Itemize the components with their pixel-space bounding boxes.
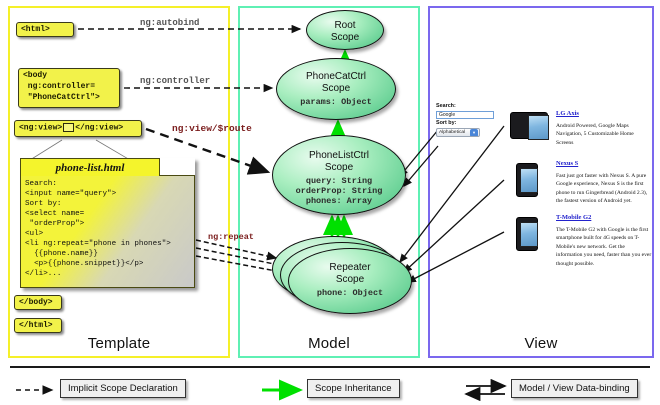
scope-phonelistctrl-title-1: PhoneListCtrl [273,150,405,162]
body-open-tag: <body ng:controller= "PhoneCatCtrl"> [18,68,120,108]
phone-image-slider [516,217,538,251]
ngview-close-label: </ng:view> [75,124,123,133]
scope-root-title-2: Scope [307,32,383,44]
scope-phonecatctrl-title-2: Scope [277,83,395,95]
phone-name-link[interactable]: Nexus S [556,160,578,167]
phone-name-link[interactable]: LG Axis [556,110,579,117]
scope-repeater-title-2: Scope [289,274,411,286]
body-close-tag: </body> [14,295,62,310]
legend-divider [10,366,650,368]
phone-image-candybar [516,163,538,197]
label-ng-repeat: ng:repeat [208,232,254,242]
phone-screen [528,115,549,140]
note-card-title: phone-list.html [20,158,160,176]
diagram-root: <html> <body ng:controller= "PhoneCatCtr… [0,0,660,405]
html-open-tag: <html> [16,22,74,37]
sort-select[interactable]: Alphabetical▾ [436,128,480,137]
note-card-code: Search: <input name="query"> Sort by: <s… [20,175,195,288]
search-input[interactable]: Google [436,111,494,119]
scope-root-title-1: Root [307,20,383,32]
label-ng-autobind: ng:autobind [140,18,199,28]
phone-snippet: Android Powered, Google Maps Navigation,… [556,122,652,147]
phone-image-qwerty [510,112,548,139]
phone-list-note-card: phone-list.html Search: <input name="que… [20,158,195,288]
label-ng-controller: ng:controller [140,76,210,86]
column-label-view: View [428,335,654,352]
label-ng-view-route: ng:view/$route [172,123,252,134]
ngview-open-label: <ng:view> [19,124,62,133]
scope-repeater-props: phone: Object [289,288,411,298]
legend-item-implicit-scope-declaration: Implicit Scope Declaration [60,379,186,398]
scope-repeater: Repeater Scope phone: Object [288,248,412,314]
sort-label: Sort by: [436,120,498,128]
html-close-tag: </html> [14,318,62,333]
scope-phonelistctrl: PhoneListCtrl Scope query: String orderP… [272,135,406,215]
column-label-model: Model [238,335,420,352]
chevron-down-icon: ▾ [470,129,478,137]
scope-phonelistctrl-props: query: String orderProp: String phones: … [273,176,405,206]
scope-phonecatctrl-title-1: PhoneCatCtrl [277,71,395,83]
sort-select-value: Alphabetical [439,130,465,135]
view-search-form: Search: Google Sort by: Alphabetical▾ [436,103,498,137]
legend-item-data-binding: Model / View Data-binding [511,379,638,398]
scope-phonecatctrl-props: params: Object [277,97,395,107]
column-label-template: Template [8,335,230,352]
ngview-tag: <ng:view></ng:view> [14,120,142,137]
phone-snippet: Fast just got faster with Nexus S. A pur… [556,172,652,206]
scope-repeater-title-1: Repeater [289,262,411,274]
phone-screen [520,222,538,247]
search-label: Search: [436,103,498,111]
scope-phonecatctrl: PhoneCatCtrl Scope params: Object [276,58,396,120]
scope-root: Root Scope [306,10,384,50]
phone-snippet: The T-Mobile G2 with Google is the first… [556,226,652,268]
ngview-slot-icon [63,123,74,132]
legend-item-scope-inheritance: Scope Inheritance [307,379,400,398]
phone-name-link[interactable]: T-Mobile G2 [556,214,591,221]
scope-phonelistctrl-title-2: Scope [273,162,405,174]
phone-screen [520,168,538,193]
